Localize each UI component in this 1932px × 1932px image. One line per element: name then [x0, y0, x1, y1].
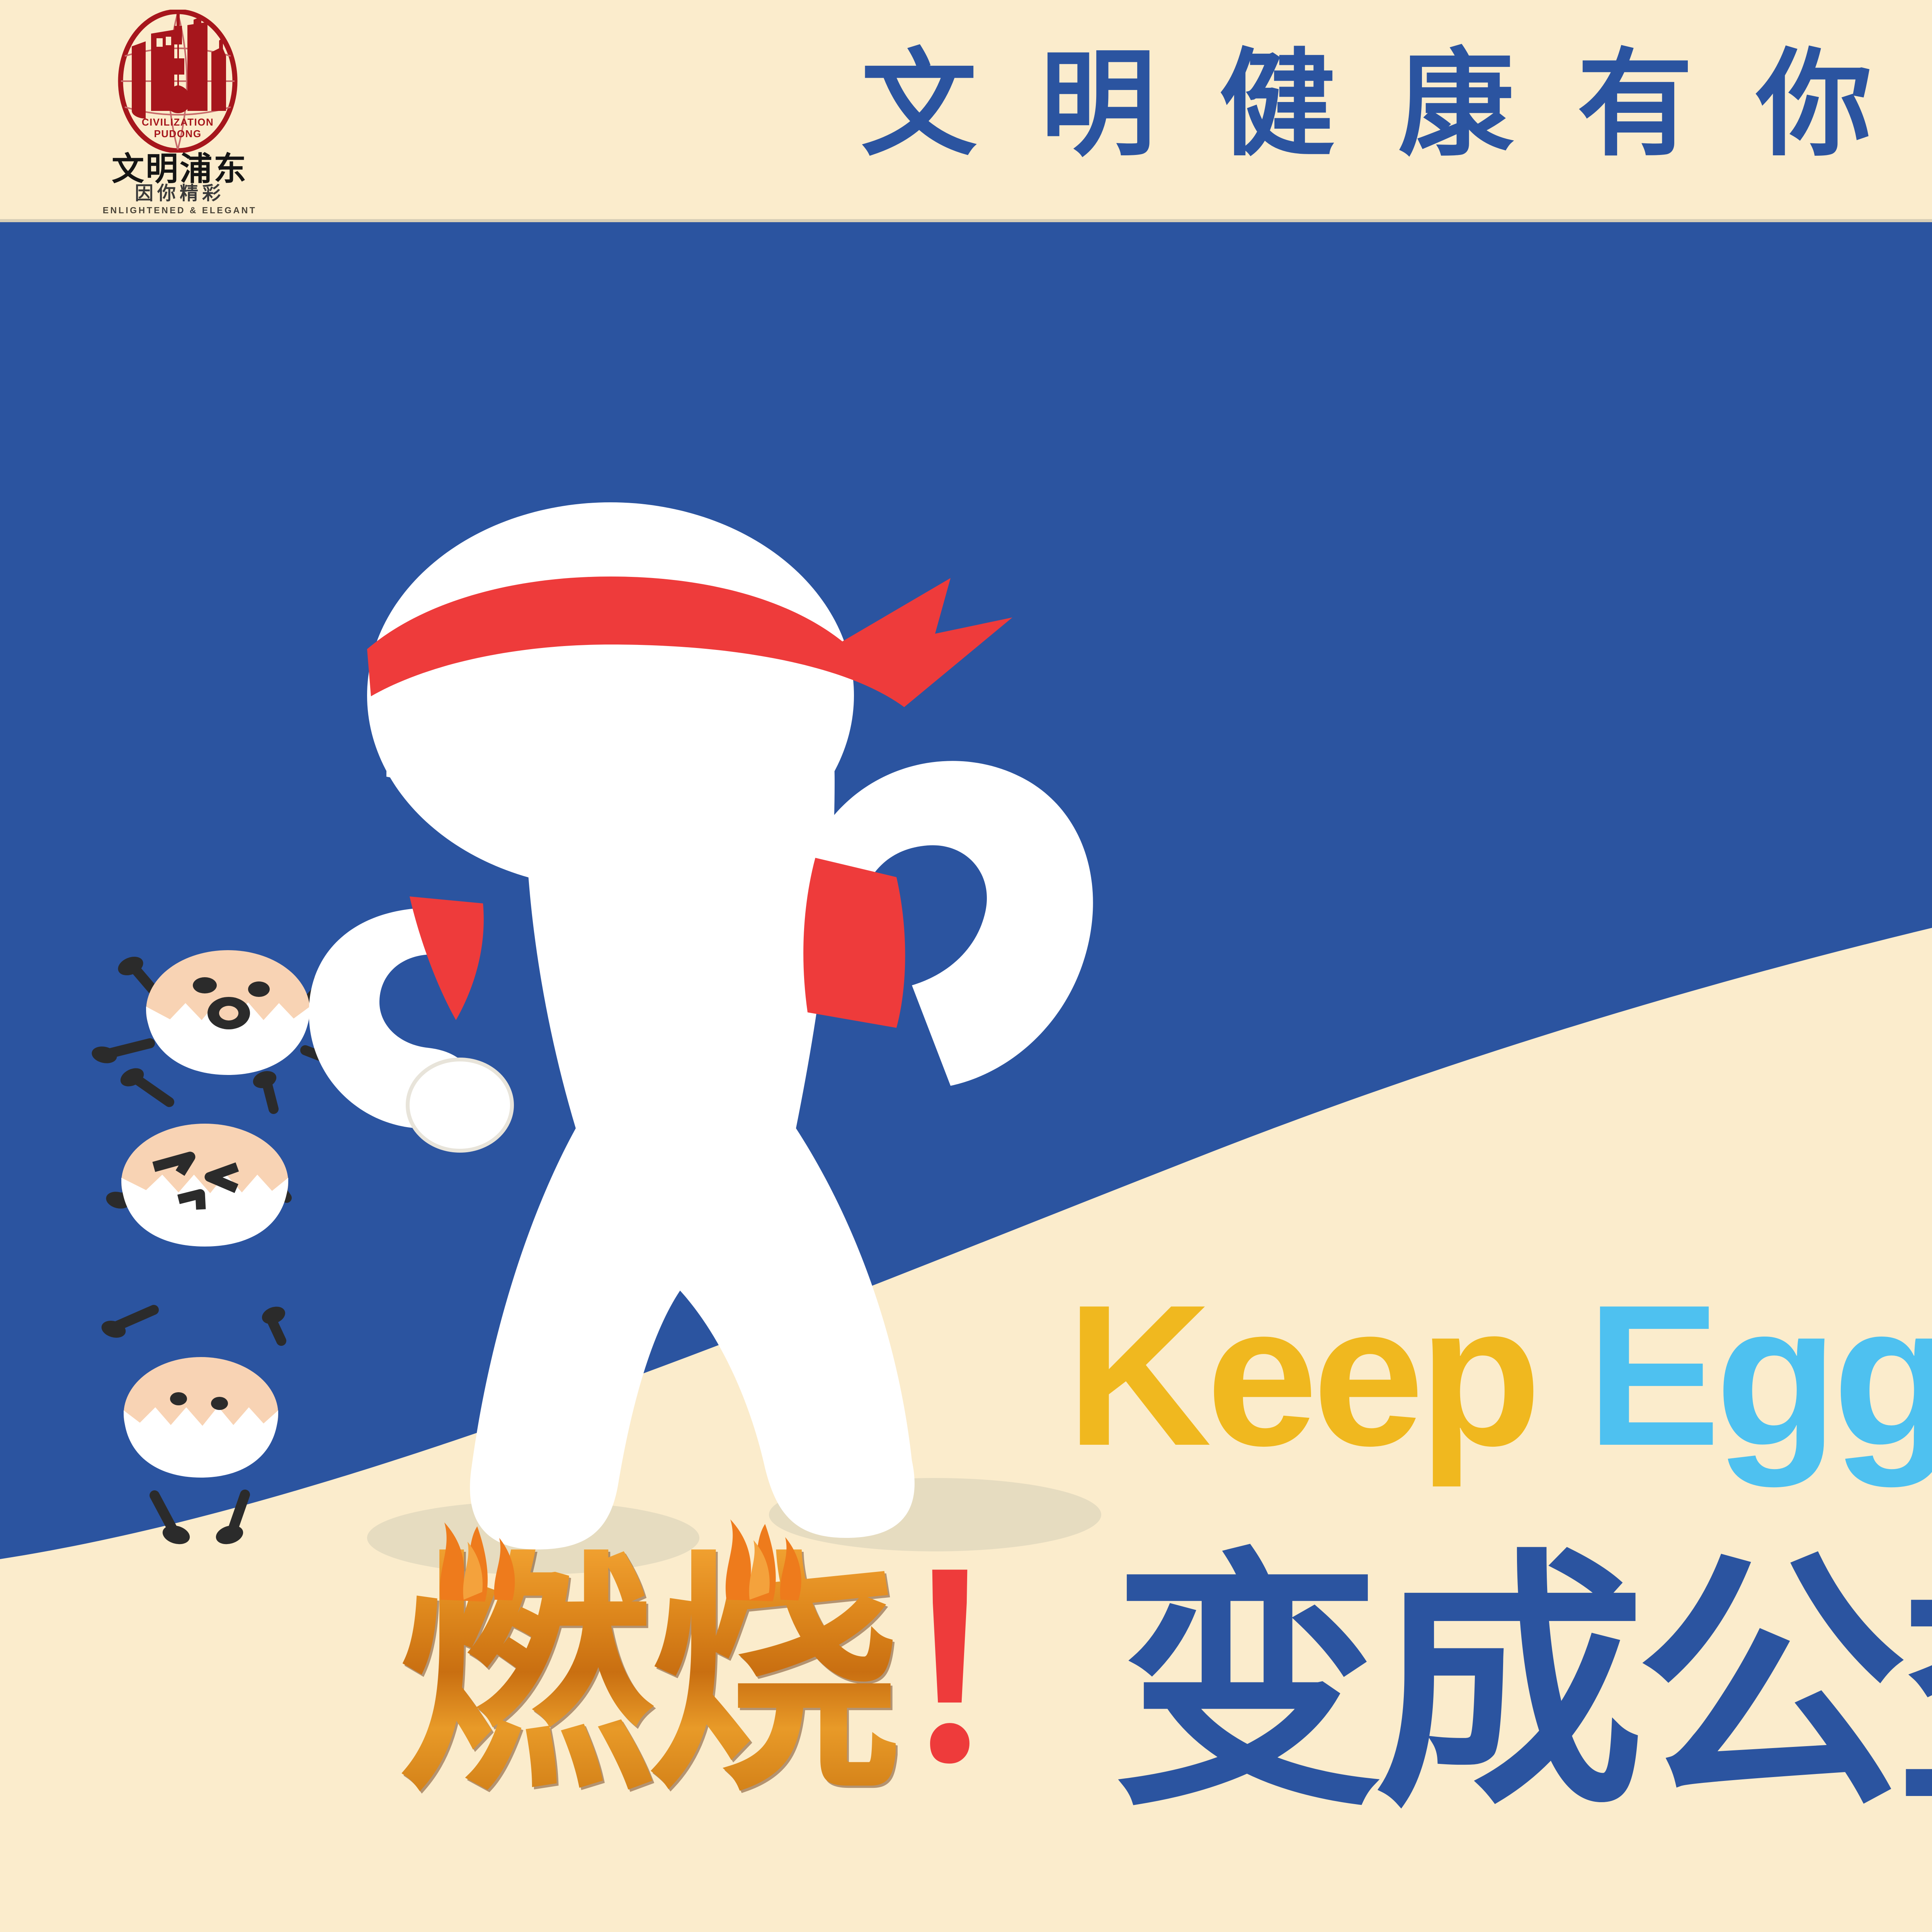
headline-word-keep: Keep	[1066, 1263, 1536, 1488]
header-band: CIVILIZATION PUDONG 文明浦东 因你精彩 ENLIGHTENE…	[0, 0, 1932, 222]
pudong-logo-en-sub: ENLIGHTENED & ELEGANT	[83, 206, 276, 215]
english-headline: Keep Eggxercising	[1066, 1275, 1932, 1492]
slogan-rest-chars: 变成公益正能量	[1112, 1549, 1932, 1820]
pudong-logo-cn-sub: 因你精彩	[83, 184, 276, 203]
chinese-slogan: 燃烧！变成公益正能量	[398, 1549, 1932, 1859]
slogan-exclamation: ！	[888, 1549, 1124, 1797]
poster-canvas: CIVILIZATION PUDONG 文明浦东 因你精彩 ENLIGHTENE…	[0, 0, 1932, 1932]
page-title: 文 明 健 康 有 你 有 我	[0, 46, 1932, 162]
slogan-burning-chars: 燃烧	[398, 1549, 896, 1804]
header-bottom-rule	[0, 219, 1932, 222]
headline-word-egg: Egg	[1587, 1263, 1932, 1488]
